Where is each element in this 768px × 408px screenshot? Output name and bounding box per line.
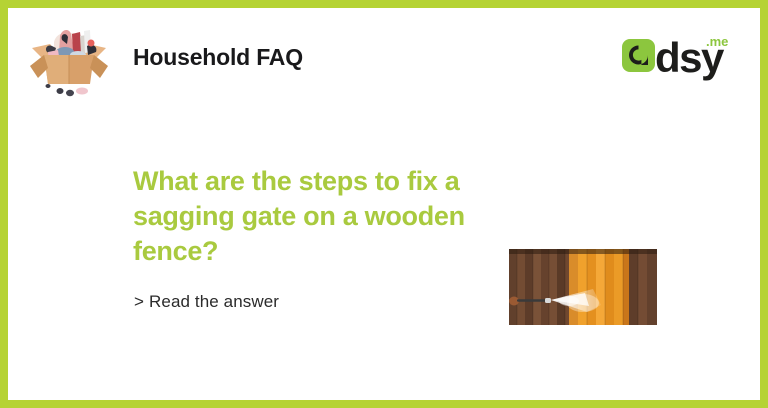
read-the-answer-label: Read the answer	[149, 292, 279, 311]
question-heading: What are the steps to fix a sagging gate…	[133, 164, 523, 269]
svg-text:.me: .me	[706, 34, 728, 49]
page-title: Household FAQ	[133, 44, 303, 71]
household-box-icon	[24, 22, 114, 98]
wooden-fence-pressure-washing-photo	[509, 249, 657, 325]
faq-card: Household FAQ dsy .me What are the steps…	[0, 0, 768, 408]
chevron-right-icon: >	[134, 292, 144, 311]
adsy-logo[interactable]: dsy .me	[622, 28, 738, 84]
card-header: Household FAQ dsy .me	[8, 8, 760, 106]
card-body: What are the steps to fix a sagging gate…	[8, 106, 760, 408]
read-the-answer-link[interactable]: >Read the answer	[134, 292, 279, 312]
